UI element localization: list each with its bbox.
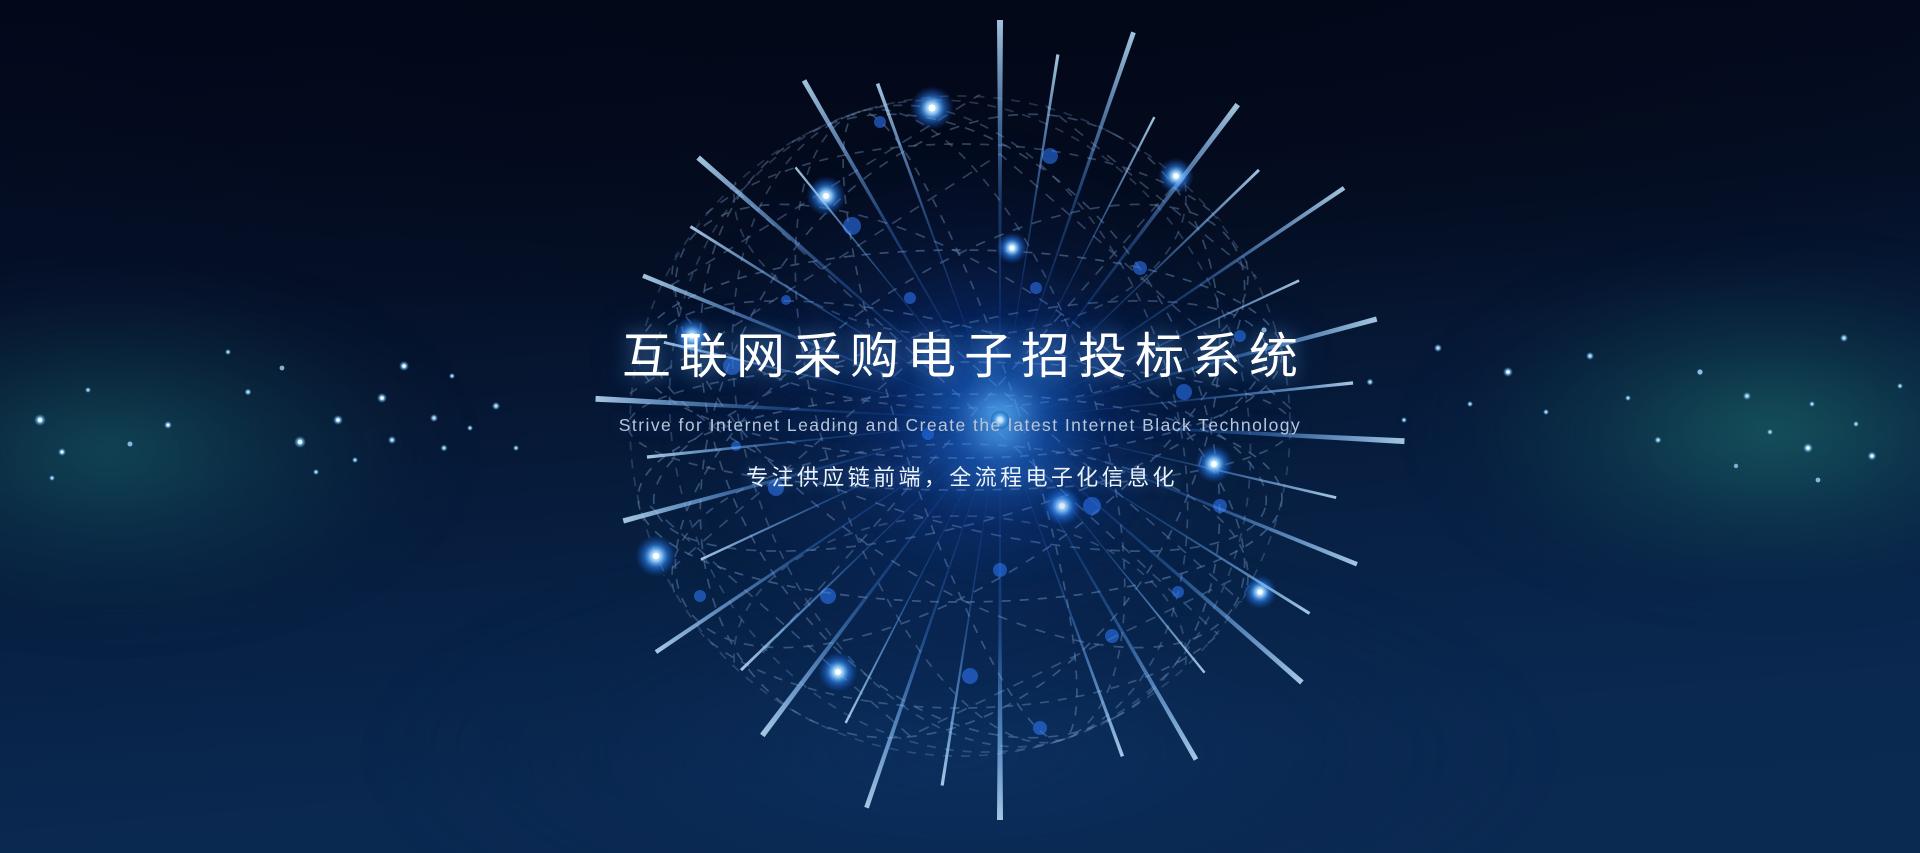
page-title: 互联网采购电子招投标系统 bbox=[0, 330, 1920, 385]
hero-copy: 互联网采购电子招投标系统 Strive for Internet Leading… bbox=[0, 330, 1920, 492]
subtitle-english: Strive for Internet Leading and Create t… bbox=[0, 415, 1920, 436]
subtitle-chinese: 专注供应链前端，全流程电子化信息化 bbox=[0, 460, 1920, 492]
hero-banner: 互联网采购电子招投标系统 Strive for Internet Leading… bbox=[0, 0, 1920, 853]
